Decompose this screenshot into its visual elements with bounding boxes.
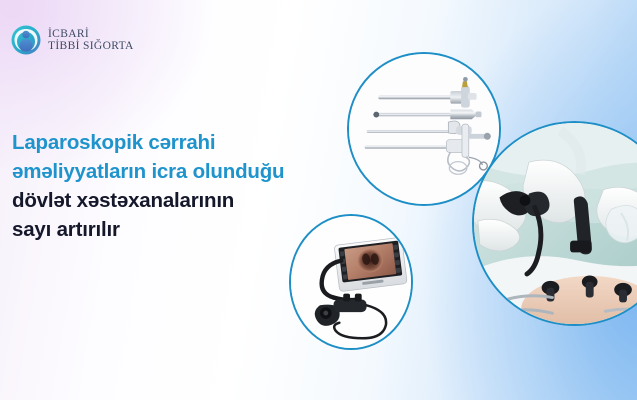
logo[interactable]: İCBARİ TİBBİ SIĞORTA: [11, 25, 134, 55]
headline-line-2: əməliyyatların icra olunduğu: [12, 157, 357, 186]
laparoscopic-instruments-photo: [347, 52, 501, 206]
icbari-tibbi-sigorta-logo-icon: [11, 25, 41, 55]
banner-root: İCBARİ TİBBİ SIĞORTA Laparoskopik cərrah…: [0, 0, 637, 400]
logo-line-2: TİBBİ SIĞORTA: [48, 40, 134, 52]
headline: Laparoskopik cərrahi əməliyyatların icra…: [12, 128, 357, 244]
headline-line-3: dövlət xəstəxanalarının: [12, 186, 357, 215]
logo-line-1: İCBARİ: [48, 28, 134, 40]
endoscope-monitor-photo: [289, 214, 413, 350]
headline-line-1: Laparoskopik cərrahi: [12, 128, 357, 157]
logo-text: İCBARİ TİBBİ SIĞORTA: [48, 28, 134, 53]
